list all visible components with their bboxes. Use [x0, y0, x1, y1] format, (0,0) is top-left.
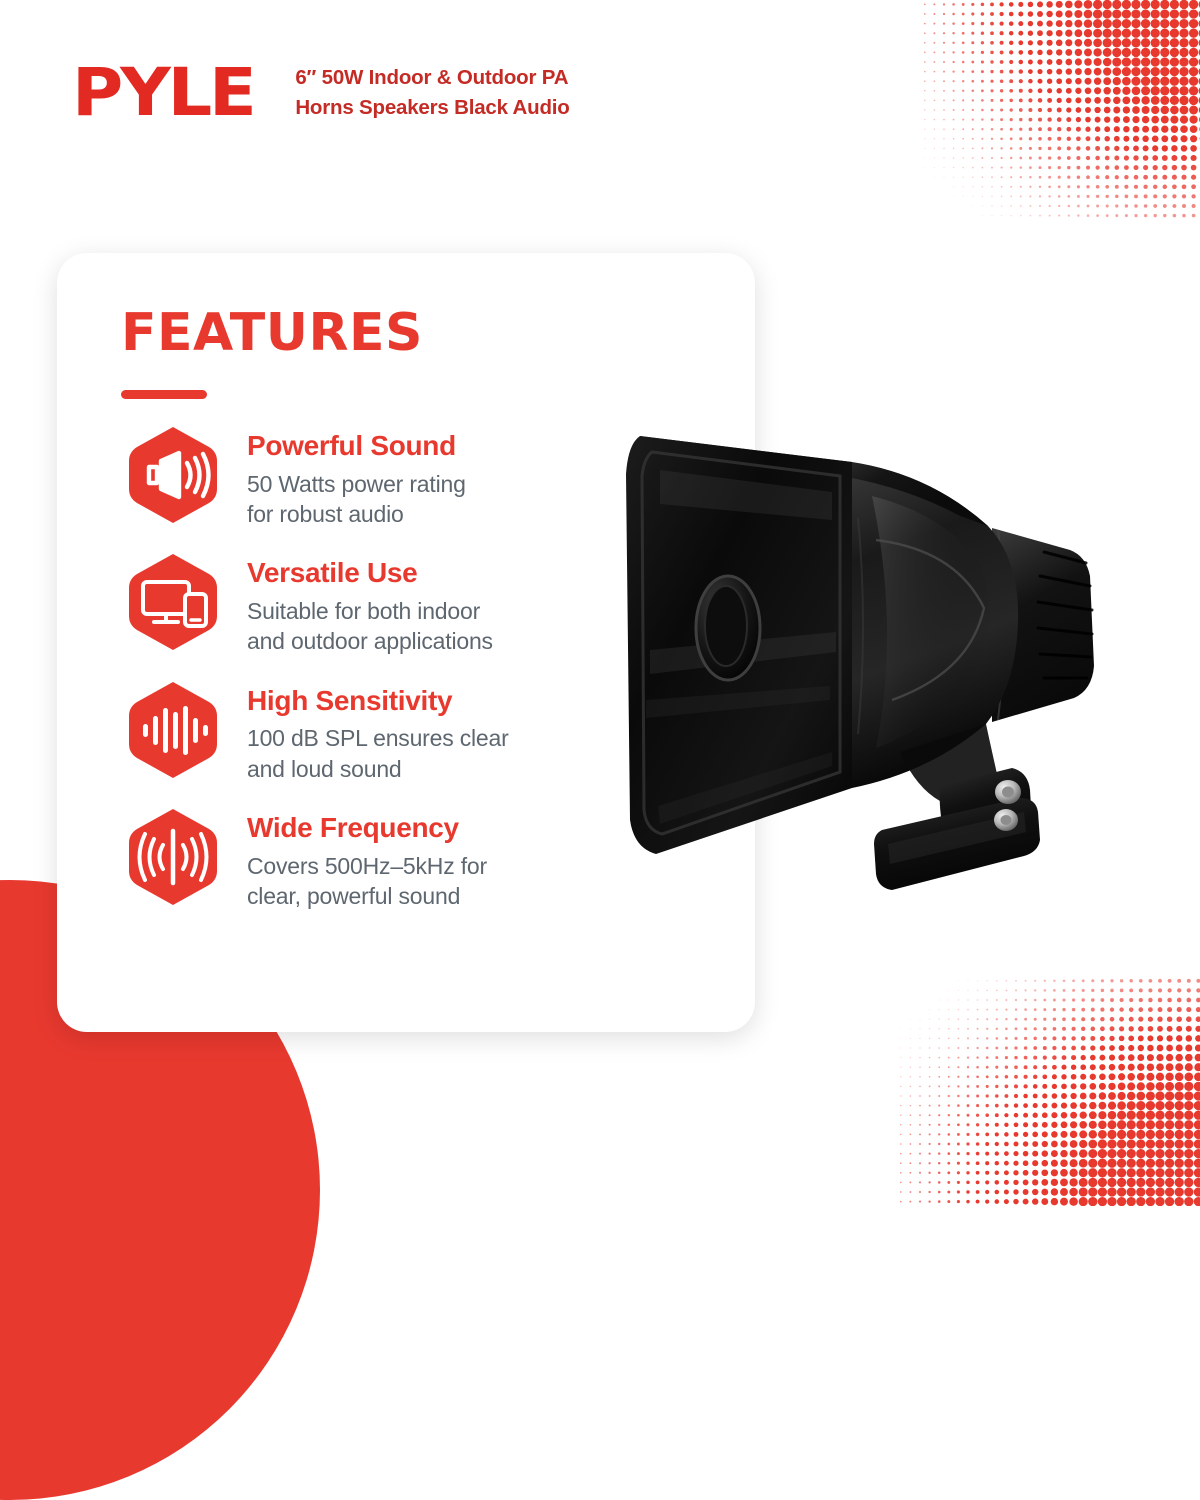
feature-text: High Sensitivity 100 dB SPL ensures clea…: [247, 678, 509, 784]
feature-text: Wide Frequency Covers 500Hz–5kHz for cle…: [247, 805, 487, 911]
feature-desc-line-1: Suitable for both indoor: [247, 598, 480, 624]
feature-text: Powerful Sound 50 Watts power rating for…: [247, 423, 466, 529]
megaphone-icon: [121, 423, 225, 527]
product-title: 6″ 50W Indoor & Outdoor PA Horns Speaker…: [295, 63, 569, 122]
feature-desc-line-2: and loud sound: [247, 756, 402, 782]
feature-desc-line-2: for robust audio: [247, 501, 404, 527]
feature-desc-line-2: clear, powerful sound: [247, 883, 460, 909]
feature-desc-line-2: and outdoor applications: [247, 628, 493, 654]
header: PYLE 6″ 50W Indoor & Outdoor PA Horns Sp…: [0, 0, 1200, 185]
feature-text: Versatile Use Suitable for both indoor a…: [247, 550, 493, 656]
feature-title: High Sensitivity: [247, 684, 509, 718]
feature-desc-line-1: Covers 500Hz–5kHz for: [247, 853, 487, 879]
feature-desc-line-1: 50 Watts power rating: [247, 471, 466, 497]
product-title-line-1: 6″ 50W Indoor & Outdoor PA: [295, 63, 569, 93]
devices-icon: [121, 550, 225, 654]
feature-title: Powerful Sound: [247, 429, 466, 463]
features-heading: FEATURES: [121, 303, 755, 363]
feature-title: Versatile Use: [247, 556, 493, 590]
heading-underline: [121, 390, 207, 399]
feature-description: Suitable for both indoor and outdoor app…: [247, 596, 493, 657]
product-image-pa-horn-speaker: [600, 400, 1200, 920]
feature-description: 100 dB SPL ensures clear and loud sound: [247, 723, 509, 784]
speaker-body: [850, 462, 1018, 788]
pyle-logo: PYLE: [72, 60, 254, 126]
halftone-dots-bottom-right: [896, 976, 1200, 1206]
product-title-line-2: Horns Speakers Black Audio: [295, 93, 569, 123]
feature-description: 50 Watts power rating for robust audio: [247, 469, 466, 530]
feature-title: Wide Frequency: [247, 811, 487, 845]
feature-desc-line-1: 100 dB SPL ensures clear: [247, 725, 509, 751]
waveform-icon: [121, 678, 225, 782]
feature-description: Covers 500Hz–5kHz for clear, powerful so…: [247, 851, 487, 912]
sound-waves-icon: [121, 805, 225, 909]
